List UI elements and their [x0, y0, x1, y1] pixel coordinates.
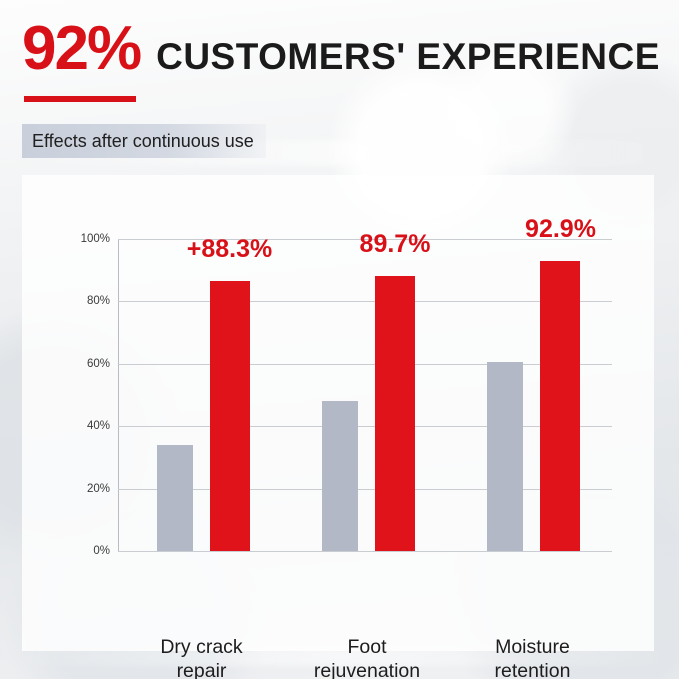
- bar-group: 92.9%Moistureretention: [118, 239, 612, 551]
- y-axis-tick-label: 80%: [87, 295, 110, 307]
- subtitle-text: Effects after continuous use: [32, 131, 254, 152]
- x-axis-tick-label-line: retention: [495, 659, 571, 679]
- y-axis-tick-label: 100%: [81, 233, 110, 245]
- subtitle-banner: Effects after continuous use: [22, 124, 266, 158]
- gridline: [118, 551, 612, 552]
- headline-percent: 92%: [22, 18, 140, 80]
- x-axis-tick-label: Footrejuvenation: [314, 635, 420, 679]
- x-axis-tick-label: Moistureretention: [495, 635, 571, 679]
- bar-after: [540, 261, 580, 551]
- y-axis-tick-label: 0%: [93, 545, 110, 557]
- page-title: CUSTOMERS' EXPERIENCE: [156, 38, 660, 75]
- bar-chart-plot: 0%20%40%60%80%100%+88.3%Dry crackrepair8…: [118, 239, 612, 551]
- bar-before: [487, 362, 523, 551]
- y-axis-tick-label: 20%: [87, 483, 110, 495]
- infographic-page: 92% CUSTOMERS' EXPERIENCE Effects after …: [0, 0, 679, 679]
- accent-underline: [24, 96, 136, 102]
- y-axis-tick-label: 60%: [87, 358, 110, 370]
- x-axis-tick-label-line: Dry crack: [160, 635, 242, 659]
- y-axis-tick-label: 40%: [87, 420, 110, 432]
- x-axis-tick-label-line: Foot: [314, 635, 420, 659]
- bar-value-label: 92.9%: [525, 215, 596, 244]
- chart-panel: 0%20%40%60%80%100%+88.3%Dry crackrepair8…: [22, 175, 654, 651]
- x-axis-tick-label-line: repair: [160, 659, 242, 679]
- x-axis-tick-label-line: Moisture: [495, 635, 571, 659]
- page-header: 92% CUSTOMERS' EXPERIENCE: [22, 18, 669, 80]
- x-axis-tick-label-line: rejuvenation: [314, 659, 420, 679]
- x-axis-tick-label: Dry crackrepair: [160, 635, 242, 679]
